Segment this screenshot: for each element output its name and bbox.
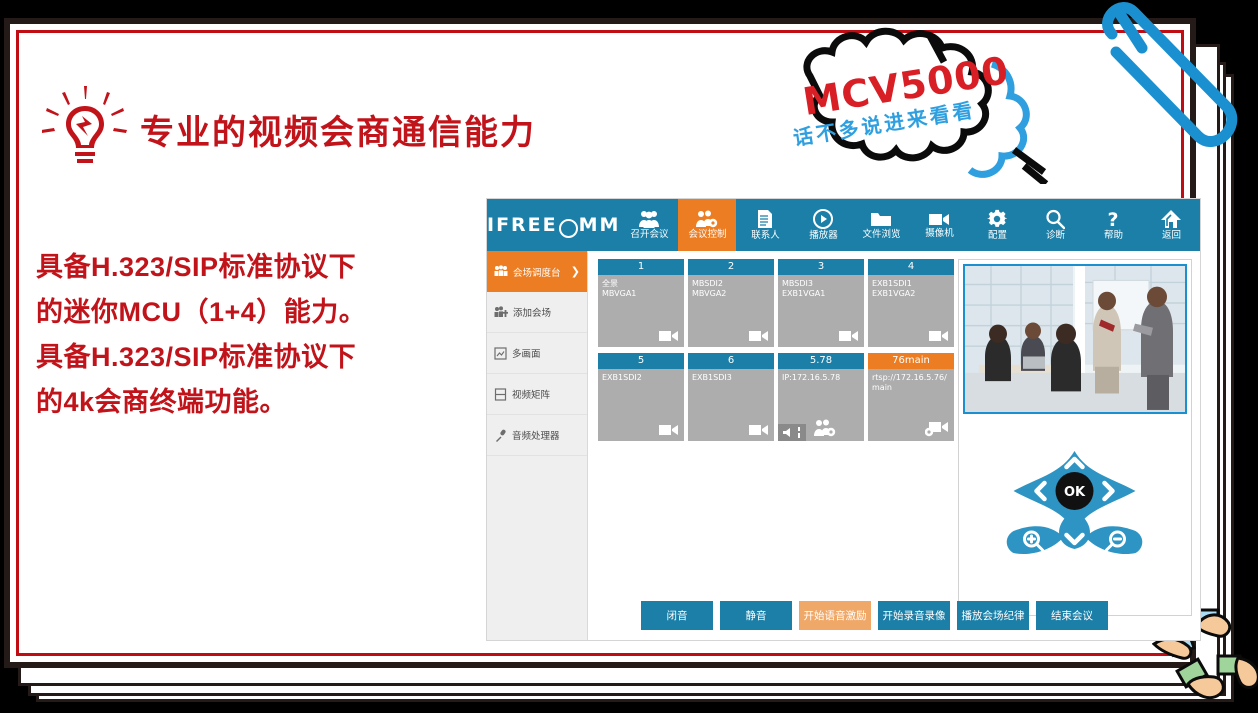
camera-gear-icon[interactable] [925, 419, 949, 437]
multiview-icon [494, 347, 507, 360]
venue-cell-title: 1 [598, 259, 684, 275]
venue-cell-line: IP:172.16.5.78 [782, 373, 860, 383]
venue-cell-title: 4 [868, 259, 954, 275]
sidebar-item-label: 视频矩阵 [512, 387, 550, 401]
venue-cell-line: 全景 [602, 279, 680, 289]
add-venue-icon [494, 306, 508, 319]
logo-text: IFREE [487, 214, 558, 236]
camcorder-icon[interactable] [659, 423, 679, 437]
nav-item-file-browser[interactable]: 文件浏览 [852, 199, 910, 251]
app-sidebar: 会场调度台 ❯ 添加会场 多画面 视频矩阵 音频处理器 [487, 251, 588, 640]
camcorder-icon[interactable] [659, 329, 679, 343]
slide-canvas: 专业的视频会商通信能力 具备H.323/SIP标准协议下 的迷你MCU（1+4）… [0, 0, 1258, 713]
button-start-recording[interactable]: 开始录音录像 [878, 601, 950, 630]
venue-cell-title: 2 [688, 259, 774, 275]
venue-cell-line: MBSDI3 [782, 279, 860, 289]
venue-cell-line: MBSDI2 [692, 279, 770, 289]
sidebar-item-multiview[interactable]: 多画面 [487, 333, 587, 374]
sidebar-item-video-matrix[interactable]: 视频矩阵 [487, 374, 587, 415]
venue-cell-578[interactable]: 5.78 IP:172.16.5.78 [778, 353, 864, 441]
question-icon: ? [1104, 209, 1122, 229]
venue-cell-body: rtsp://172.16.5.76/main [868, 369, 954, 393]
nav-label: 诊断 [1046, 231, 1065, 241]
venue-cell-body: MBSDI3 EXB1VGA1 [778, 275, 864, 299]
body-line-4: 的4k会商终端功能。 [36, 380, 466, 425]
venue-cell-2[interactable]: 2 MBSDI2 MBVGA2 [688, 259, 774, 347]
app-content: 1 全景 MBVGA1 2 MBSDI2 MBVGA2 [588, 251, 1200, 640]
venue-cell-3[interactable]: 3 MBSDI3 EXB1VGA1 [778, 259, 864, 347]
sidebar-item-audio-processor[interactable]: 音频处理器 [487, 415, 587, 456]
venue-cell-title: 5.78 [778, 353, 864, 369]
body-line-2: 的迷你MCU（1+4）能力。 [36, 290, 466, 335]
preview-panel: OK [958, 259, 1192, 616]
mcv5000-app-window: IFREEMM 召开会议 会议控制 联系人 播放器 [487, 199, 1200, 640]
venue-cell-76main[interactable]: 76main rtsp://172.16.5.76/main [868, 353, 954, 441]
nav-item-diagnostics[interactable]: 诊断 [1026, 199, 1084, 251]
speech-bubble: MCV5000 话不多说进来看看 [752, 24, 1082, 184]
nav-label: 配置 [988, 231, 1007, 241]
nav-label: 帮助 [1104, 231, 1123, 241]
venue-cell-title: 6 [688, 353, 774, 369]
sidebar-item-add-venue[interactable]: 添加会场 [487, 292, 587, 333]
app-logo: IFREEMM [487, 199, 620, 251]
folder-icon [870, 210, 892, 228]
nav-label: 播放器 [809, 231, 838, 241]
people-icon [638, 210, 660, 228]
venue-cell-body: EXB1SDI3 [688, 369, 774, 383]
venue-cell-line: EXB1SDI1 [872, 279, 950, 289]
volume-level-icon [797, 427, 801, 438]
venue-grid-row-1: 1 全景 MBVGA1 2 MBSDI2 MBVGA2 [598, 259, 958, 347]
nav-item-meeting-control[interactable]: 会议控制 [678, 199, 736, 251]
contacts-icon [756, 209, 774, 229]
nav-item-contacts[interactable]: 联系人 [736, 199, 794, 251]
svg-text:?: ? [1108, 209, 1119, 229]
nav-label: 摄像机 [925, 229, 954, 239]
sidebar-item-label: 音频处理器 [512, 428, 560, 442]
speaker-icon [783, 427, 794, 438]
ptz-dpad: OK [988, 445, 1163, 575]
app-header: IFREEMM 召开会议 会议控制 联系人 播放器 [487, 199, 1200, 251]
venue-cell-line: EXB1VGA2 [872, 289, 950, 299]
camcorder-icon [928, 211, 950, 227]
body-text: 具备H.323/SIP标准协议下 的迷你MCU（1+4）能力。 具备H.323/… [36, 245, 466, 425]
venue-cell-line: EXB1VGA1 [782, 289, 860, 299]
venue-cell-body: EXB1SDI1 EXB1VGA2 [868, 275, 954, 299]
button-play-venue-discipline[interactable]: 播放会场纪律 [957, 601, 1029, 630]
chevron-right-icon: ❯ [571, 265, 580, 278]
nav-label: 返回 [1162, 231, 1181, 241]
nav-item-camera[interactable]: 摄像机 [910, 199, 968, 251]
button-close-audio[interactable]: 闭音 [641, 601, 713, 630]
app-body: 会场调度台 ❯ 添加会场 多画面 视频矩阵 音频处理器 [487, 251, 1200, 640]
body-line-3: 具备H.323/SIP标准协议下 [36, 335, 466, 380]
button-start-voice-activation[interactable]: 开始语音激励 [799, 601, 871, 630]
people-gear-icon[interactable] [814, 419, 836, 437]
venue-cell-body: 全景 MBVGA1 [598, 275, 684, 299]
venue-cell-title: 76main [868, 353, 954, 369]
home-icon [1160, 209, 1182, 229]
lightbulb-icon [42, 86, 128, 170]
venue-cell-6[interactable]: 6 EXB1SDI3 [688, 353, 774, 441]
paperclip-icon [1076, 0, 1256, 196]
nav-item-config[interactable]: 配置 [968, 199, 1026, 251]
nav-label: 文件浏览 [862, 230, 900, 240]
button-end-meeting[interactable]: 结束会议 [1036, 601, 1108, 630]
app-nav: 召开会议 会议控制 联系人 播放器 文件浏览 [620, 199, 1200, 251]
sidebar-item-label: 多画面 [512, 346, 541, 360]
venue-cell-5[interactable]: 5 EXB1SDI2 [598, 353, 684, 441]
gear-icon [987, 209, 1007, 229]
action-button-bar: 闭音 静音 开始语音激励 开始录音录像 播放会场纪律 结束会议 [588, 601, 1200, 630]
venue-cell-line: MBVGA1 [602, 289, 680, 299]
nav-label: 会议控制 [688, 230, 726, 240]
people-gear-icon [696, 210, 718, 228]
venue-cell-body: EXB1SDI2 [598, 369, 684, 383]
meeting-room-video-preview[interactable] [963, 264, 1187, 414]
venue-grid-row-2: 5 EXB1SDI2 6 EXB1SDI3 [598, 353, 958, 441]
venue-cell-line: MBVGA2 [692, 289, 770, 299]
venue-grid: 1 全景 MBVGA1 2 MBSDI2 MBVGA2 [598, 259, 958, 447]
nav-label: 召开会议 [630, 230, 668, 240]
video-matrix-icon [494, 388, 507, 401]
page-title: 专业的视频会商通信能力 [140, 105, 536, 154]
camcorder-icon[interactable] [839, 329, 859, 343]
play-icon [813, 209, 833, 229]
venue-cell-line: EXB1SDI3 [692, 373, 770, 383]
button-mute[interactable]: 静音 [720, 601, 792, 630]
camcorder-icon[interactable] [749, 329, 769, 343]
magnifier-icon [1045, 209, 1065, 229]
sidebar-item-label: 会场调度台 [513, 265, 561, 279]
nav-item-start-meeting[interactable]: 召开会议 [620, 199, 678, 251]
venue-cell-title: 3 [778, 259, 864, 275]
venue-console-icon [494, 265, 508, 278]
speaker-volume-control[interactable] [778, 424, 806, 441]
logo-circle-icon [559, 219, 578, 238]
nav-item-back-home[interactable]: 返回 [1142, 199, 1200, 251]
body-line-1: 具备H.323/SIP标准协议下 [36, 245, 466, 290]
venue-cell-4[interactable]: 4 EXB1SDI1 EXB1VGA2 [868, 259, 954, 347]
sidebar-item-label: 添加会场 [513, 305, 551, 319]
camcorder-icon[interactable] [749, 423, 769, 437]
venue-cell-body: IP:172.16.5.78 [778, 369, 864, 383]
sidebar-item-venue-console[interactable]: 会场调度台 ❯ [487, 251, 587, 292]
nav-label: 联系人 [751, 231, 780, 241]
venue-cell-line: EXB1SDI2 [602, 373, 680, 383]
nav-item-player[interactable]: 播放器 [794, 199, 852, 251]
venue-cell-1[interactable]: 1 全景 MBVGA1 [598, 259, 684, 347]
venue-cell-title: 5 [598, 353, 684, 369]
logo-text-tail: MM [579, 214, 621, 236]
venue-cell-line: rtsp://172.16.5.76/main [872, 373, 950, 393]
microphone-icon [494, 429, 507, 442]
ok-label: OK [1064, 485, 1086, 500]
nav-item-help[interactable]: ? 帮助 [1084, 199, 1142, 251]
camcorder-icon[interactable] [929, 329, 949, 343]
venue-cell-body: MBSDI2 MBVGA2 [688, 275, 774, 299]
